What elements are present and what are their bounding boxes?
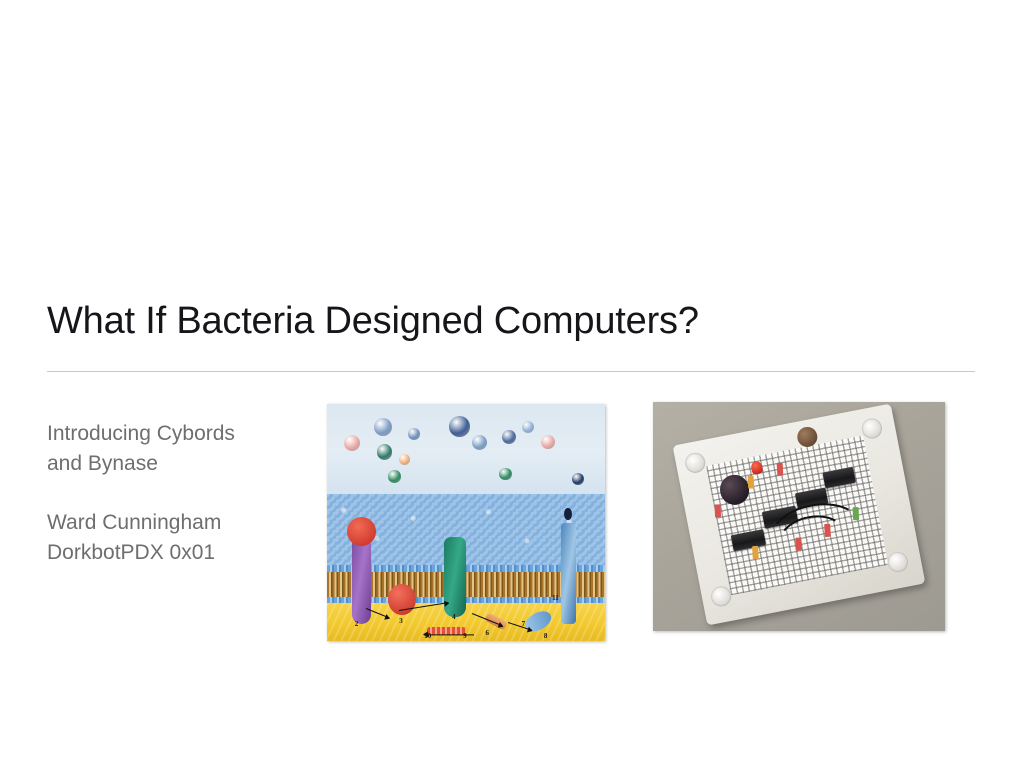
- subtitle-block: Introducing Cybords and Bynase Ward Cunn…: [47, 419, 309, 568]
- mounting-hole-top-right: [860, 416, 883, 440]
- membrane-label-10: 10: [424, 632, 431, 640]
- molecule-sphere: [449, 416, 470, 437]
- ion-channel-protein-blue: [561, 523, 576, 625]
- membrane-label-4: 4: [452, 613, 456, 621]
- cell-membrane-graphic: 23467891011: [327, 404, 605, 641]
- transmembrane-protein-purple: [352, 539, 371, 624]
- resistor-3: [776, 462, 782, 475]
- resistor-1: [714, 504, 720, 517]
- mounting-hole-bottom-right: [886, 550, 909, 574]
- breadboard-body: [673, 403, 926, 625]
- resistor-2: [747, 475, 753, 488]
- membrane-label-3: 3: [399, 617, 403, 625]
- membrane-label-11: 11: [552, 594, 559, 602]
- membrane-label-7: 7: [522, 620, 526, 628]
- page-title: What If Bacteria Designed Computers?: [47, 298, 977, 344]
- membrane-label-9: 9: [463, 632, 467, 640]
- author-text: Ward Cunningham DorkbotPDX 0x01: [47, 508, 309, 568]
- molecule-sphere: [472, 435, 487, 450]
- molecule-sphere: [541, 435, 555, 449]
- membrane-label-8: 8: [544, 632, 548, 640]
- mounting-hole-top-left: [683, 451, 706, 475]
- molecule-sphere: [388, 470, 401, 483]
- resistor-7: [752, 545, 758, 558]
- figure-breadboard-photo: [653, 402, 945, 631]
- title-divider: [47, 371, 975, 372]
- membrane-label-6: 6: [485, 629, 489, 637]
- molecule-sphere: [502, 430, 516, 444]
- subtitle-text: Introducing Cybords and Bynase: [47, 419, 309, 479]
- molecule-sphere: [377, 444, 392, 459]
- slide-canvas: What If Bacteria Designed Computers? Int…: [0, 0, 1024, 768]
- molecule-sphere: [522, 421, 535, 434]
- figure-cell-membrane: 23467891011: [327, 404, 605, 641]
- membrane-label-2: 2: [355, 620, 359, 628]
